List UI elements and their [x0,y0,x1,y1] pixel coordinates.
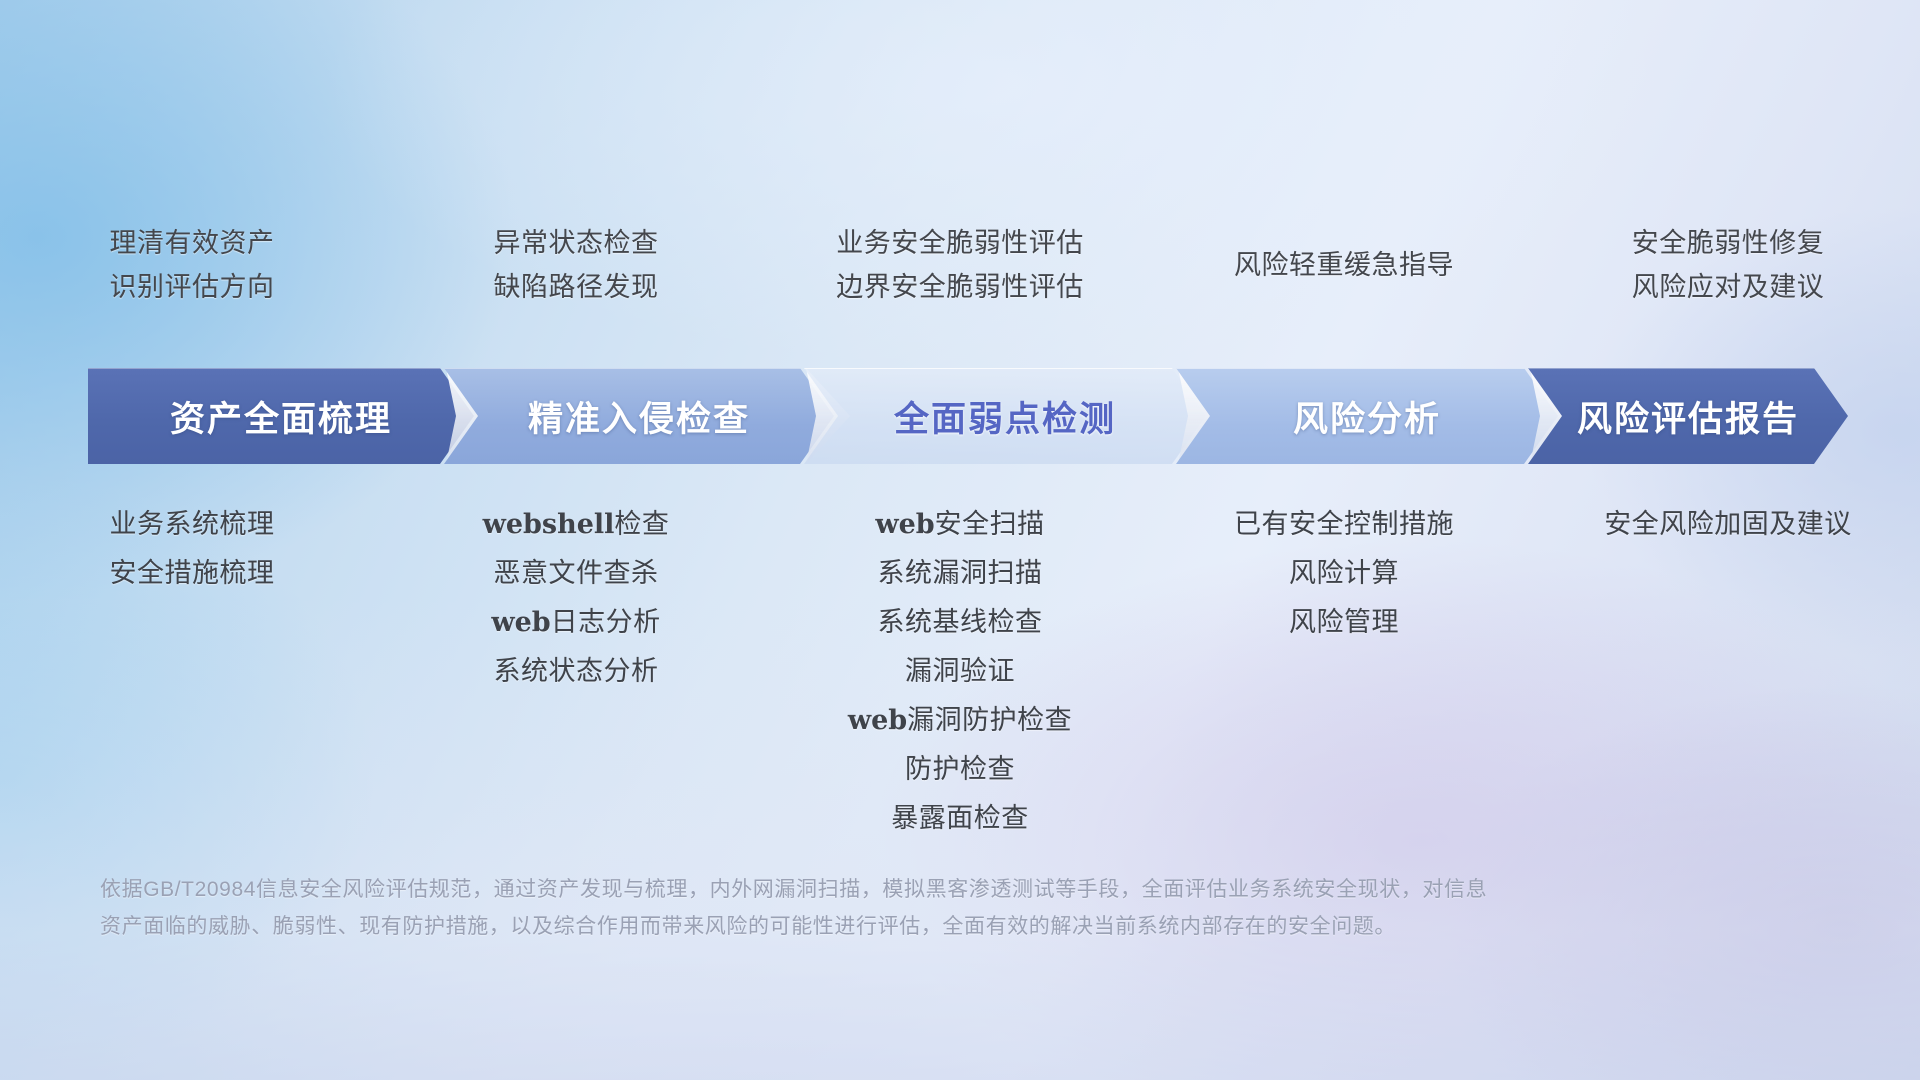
top-notes-col-5: 安全脆弱性修复 风险应对及建议 [1536,222,1920,309]
process-step-risk-report[interactable]: 风险评估报告 [1528,368,1848,464]
top-notes-row: 理清有效资产 识别评估方向 异常状态检查 缺陷路径发现 业务安全脆弱性评估 边界… [0,222,1920,309]
list-item: 已有安全控制措施 [1152,500,1536,549]
list-item: 安全风险加固及建议 [1536,500,1920,549]
top-notes-col-2: 异常状态检查 缺陷路径发现 [384,222,768,309]
top-note: 风险应对及建议 [1536,266,1920,310]
top-note: 缺陷路径发现 [384,266,768,310]
detail-list-col-4: 已有安全控制措施 风险计算 风险管理 [1152,500,1536,843]
list-item: web日志分析 [384,598,768,647]
top-note: 业务安全脆弱性评估 [768,222,1152,266]
top-note: 异常状态检查 [384,222,768,266]
list-item: 风险管理 [1152,598,1536,647]
list-item: 系统状态分析 [384,647,768,696]
detail-list-col-1: 业务系统梳理 安全措施梳理 [0,500,384,843]
list-item: 防护检查 [768,745,1152,794]
footer-line-2: 资产面临的威胁、脆弱性、现有防护措施，以及综合作用而带来风险的可能性进行评估，全… [100,909,1630,946]
process-step-asset-inventory[interactable]: 资产全面梳理 [88,368,474,464]
top-note: 边界安全脆弱性评估 [768,266,1152,310]
process-diagram: 理清有效资产 识别评估方向 异常状态检查 缺陷路径发现 业务安全脆弱性评估 边界… [0,0,1920,1080]
list-item: 漏洞验证 [768,647,1152,696]
process-step-intrusion-check[interactable]: 精准入侵检查 [444,368,834,464]
list-item: webshell检查 [384,500,768,549]
list-item: 业务系统梳理 [0,500,384,549]
detail-list-col-3: web安全扫描 系统漏洞扫描 系统基线检查 漏洞验证 web漏洞防护检查 防护检… [768,500,1152,843]
list-item-suffix: 日志分析 [551,607,661,637]
list-item: 系统基线检查 [768,598,1152,647]
detail-list-col-2: webshell检查 恶意文件查杀 web日志分析 系统状态分析 [384,500,768,843]
list-item: 暴露面检查 [768,794,1152,843]
process-step-risk-analysis[interactable]: 风险分析 [1176,368,1558,464]
detail-list-col-5: 安全风险加固及建议 [1536,500,1920,843]
process-step-label: 全面弱点检测 [894,391,1116,442]
list-item: web漏洞防护检查 [768,696,1152,745]
footer-line-1: 依据GB/T20984信息安全风险评估规范，通过资产发现与梳理，内外网漏洞扫描，… [100,872,1630,909]
process-step-weakness-detection[interactable]: 全面弱点检测 [804,368,1206,464]
list-item-suffix: 安全扫描 [935,509,1045,539]
top-notes-col-1: 理清有效资产 识别评估方向 [0,222,384,309]
process-step-label: 风险评估报告 [1577,391,1799,442]
detail-lists-row: 业务系统梳理 安全措施梳理 webshell检查 恶意文件查杀 web日志分析 … [0,500,1920,843]
top-note: 识别评估方向 [0,266,384,310]
top-note: 风险轻重缓急指导 [1152,244,1536,288]
list-item: 安全措施梳理 [0,549,384,598]
footer-description: 依据GB/T20984信息安全风险评估规范，通过资产发现与梳理，内外网漏洞扫描，… [100,872,1630,946]
process-step-label: 资产全面梳理 [170,391,392,442]
list-item: 系统漏洞扫描 [768,549,1152,598]
top-note: 安全脆弱性修复 [1536,222,1920,266]
list-item: web安全扫描 [768,500,1152,549]
process-arrow-band: 资产全面梳理 精准入侵检查 全面弱点检测 风险分析 风险评估报告 [88,368,1848,464]
list-item: 恶意文件查杀 [384,549,768,598]
process-step-label: 风险分析 [1293,391,1441,442]
top-notes-col-3: 业务安全脆弱性评估 边界安全脆弱性评估 [768,222,1152,309]
list-item-suffix: 漏洞防护检查 [907,705,1072,735]
list-item-suffix: 检查 [614,509,669,539]
top-note: 理清有效资产 [0,222,384,266]
process-step-label: 精准入侵检查 [528,391,750,442]
top-notes-col-4: 风险轻重缓急指导 [1152,222,1536,309]
list-item: 风险计算 [1152,549,1536,598]
